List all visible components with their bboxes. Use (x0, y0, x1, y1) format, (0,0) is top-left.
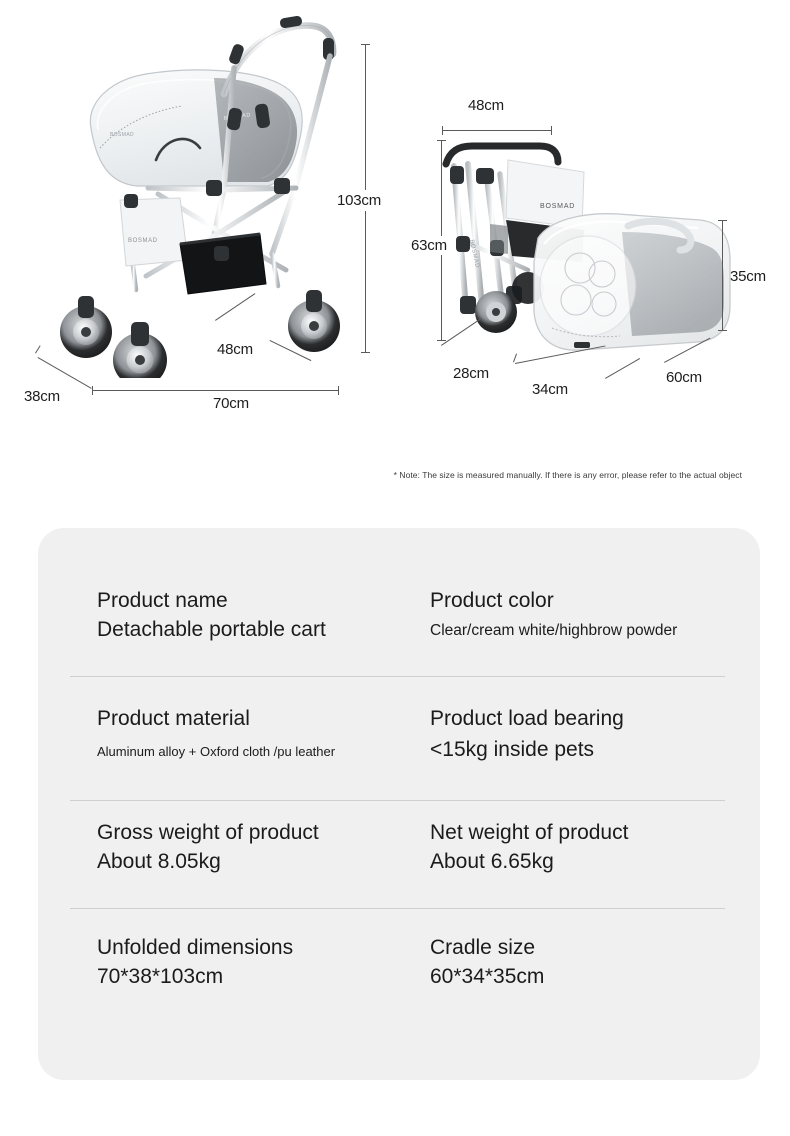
spec-row-gross-weight: Gross weight of product About 8.05kg Net… (38, 820, 760, 906)
spec-label-product-color: Product color (430, 588, 750, 615)
specification-card: Product name Detachable portable cart Pr… (38, 528, 760, 1080)
dimension-tick-103cm-bottom (361, 352, 370, 353)
spec-cell-cradle-size: Cradle size 60*34*35cm (430, 935, 750, 991)
spec-value-net-weight: About 6.65kg (430, 849, 750, 876)
storage-basket (180, 234, 266, 294)
spec-label-cradle-size: Cradle size (430, 935, 750, 962)
spec-cell-product-name: Product name Detachable portable cart (97, 588, 427, 644)
spec-value-gross-weight: About 8.05kg (97, 849, 427, 876)
spec-cell-unfolded-dimensions: Unfolded dimensions 70*38*103cm (97, 935, 427, 991)
spec-row-product-name: Product name Detachable portable cart Pr… (38, 588, 760, 680)
dimension-label-70cm: 70cm (208, 394, 254, 413)
dimension-tick-63cm-bottom (437, 340, 446, 341)
spec-divider-2 (70, 800, 725, 801)
spec-cell-net-weight: Net weight of product About 6.65kg (430, 820, 750, 876)
svg-text:BOSMAD: BOSMAD (128, 238, 158, 244)
product-illustrations: BOSMAD BOSMAD (0, 0, 790, 500)
measurement-note: * Note: The size is measured manually. I… (0, 470, 742, 480)
spec-label-unfolded-dimensions: Unfolded dimensions (97, 935, 427, 962)
spec-value-load-bearing: <15kg inside pets (430, 737, 750, 764)
dimension-tick-48cm-folded-right (551, 126, 552, 135)
footboard-panel: BOSMAD (120, 198, 188, 266)
spec-value-product-name: Detachable portable cart (97, 617, 427, 644)
spec-cell-product-color: Product color Clear/cream white/highbrow… (430, 588, 750, 641)
spec-label-product-material: Product material (97, 706, 427, 733)
spec-value-cradle-size: 60*34*35cm (430, 964, 750, 991)
dimension-tick-35cm-bottom (718, 330, 727, 331)
spec-value-unfolded-dimensions: 70*38*103cm (97, 964, 427, 991)
spec-value-product-material: Aluminum alloy + Oxford cloth /pu leathe… (97, 744, 427, 761)
svg-text:BOSMAD: BOSMAD (110, 132, 134, 138)
dimension-label-63cm: 63cm (407, 236, 451, 255)
dimension-tick-35cm-top (718, 220, 727, 221)
spec-value-product-color: Clear/cream white/highbrow powder (430, 621, 750, 641)
dimension-line-48cm-folded (442, 130, 552, 131)
canopy-bubble: BOSMAD BOSMAD (90, 70, 302, 186)
dimension-tick-103cm-top (361, 44, 370, 45)
dimension-label-60cm: 60cm (662, 368, 706, 387)
wheels (60, 290, 340, 378)
dimension-label-103cm: 103cm (333, 190, 385, 211)
spec-row-product-material: Product material Aluminum alloy + Oxford… (38, 706, 760, 798)
dimension-tick-48cm-folded-left (442, 126, 443, 135)
spec-label-net-weight: Net weight of product (430, 820, 750, 847)
spec-divider-3 (70, 908, 725, 909)
spec-cell-gross-weight: Gross weight of product About 8.05kg (97, 820, 427, 876)
spec-divider-1 (70, 676, 725, 677)
dimension-line-35cm (722, 220, 723, 330)
dimension-line-70cm (92, 390, 339, 391)
dimension-tick-70cm-left (92, 386, 93, 395)
spec-row-unfolded-dimensions: Unfolded dimensions 70*38*103cm Cradle s… (38, 935, 760, 1021)
spec-cell-load-bearing: Product load bearing <15kg inside pets (430, 706, 750, 764)
carrier-cradle (534, 214, 730, 350)
unfolded-stroller-illustration: BOSMAD BOSMAD (28, 8, 358, 378)
spec-cell-product-material: Product material Aluminum alloy + Oxford… (97, 706, 427, 761)
dimension-label-34cm: 34cm (528, 380, 572, 399)
spec-label-product-name: Product name (97, 588, 427, 615)
dimension-tick-70cm-right (338, 386, 339, 395)
dimension-tick-63cm-top (437, 140, 446, 141)
folded-stroller-illustration: BOSMAD BOSMAD (432, 120, 742, 380)
dimension-label-35cm: 35cm (730, 268, 766, 285)
svg-text:BOSMAD: BOSMAD (540, 203, 575, 210)
dimension-label-48cm-folded: 48cm (468, 97, 504, 114)
dimension-label-38cm: 38cm (24, 388, 60, 405)
dimension-label-28cm: 28cm (453, 365, 489, 382)
dimension-label-48cm: 48cm (212, 340, 258, 359)
spec-label-load-bearing: Product load bearing (430, 706, 750, 733)
spec-label-gross-weight: Gross weight of product (97, 820, 427, 847)
